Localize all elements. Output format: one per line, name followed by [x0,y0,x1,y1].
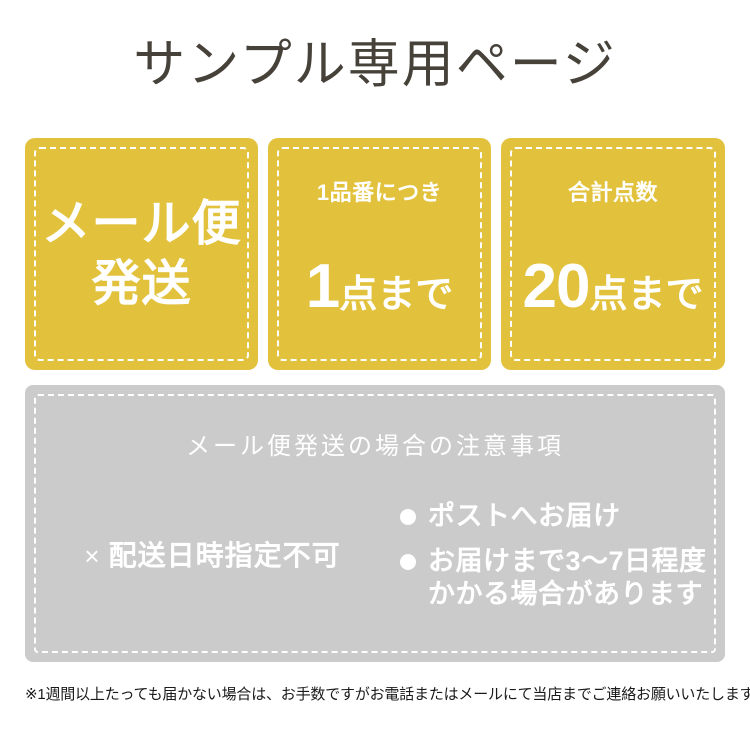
card-total-quantity-number: 20 [523,256,590,318]
list-item-label: ポストへお届け [428,500,621,533]
page-title: サンプル専用ページ [0,34,750,96]
card-shipping-method: メール便 発送 [25,138,258,370]
list-item: ポストへお届け [400,500,725,533]
list-item-label-line1: お届けまで3〜7日程度 [428,546,707,576]
card-shipping-method-line2: 発送 [25,254,258,314]
card-per-item-limit-number: 1 [306,256,339,318]
card-total-quantity-value: 20 点まで [501,256,725,328]
notice-heading: メール便発送の場合の注意事項 [25,432,725,462]
notice-no-delivery-time-selection: ×配送日時指定不可 [25,538,400,574]
card-total-quantity-unit: 点まで [589,276,703,314]
card-total-quantity-limit: 合計点数 20 点まで [501,138,725,370]
cross-icon: × [84,541,100,571]
card-shipping-method-line1: メール便 [25,194,258,254]
bullet-dot-icon [400,554,416,570]
highlight-card-row: メール便 発送 1品番につき 1 点まで 合計点数 20 点まで [25,138,725,370]
notice-bullet-list: ポストへお届け お届けまで3〜7日程度 かかる場合があります [400,500,725,611]
card-per-item-limit-unit: 点まで [339,276,453,314]
footer-note: ※1週間以上たっても届かない場合は、お手数ですがお電話またはメールにて当店までご… [25,684,731,706]
card-shipping-method-text: メール便 発送 [25,194,258,314]
card-per-item-limit-caption: 1品番につき [268,180,491,206]
card-total-quantity-caption: 合計点数 [501,180,725,206]
bullet-dot-icon [400,509,416,525]
notice-no-delivery-time-selection-label: 配送日時指定不可 [109,540,341,571]
list-item-label: お届けまで3〜7日程度 かかる場合があります [428,545,707,611]
notice-body: ×配送日時指定不可 ポストへお届け お届けまで3〜7日程度 かかる場合があります [25,500,725,611]
card-per-item-limit: 1品番につき 1 点まで [268,138,491,370]
sample-shipping-info-page: サンプル専用ページ メール便 発送 1品番につき 1 点まで 合計点数 20 点… [0,0,750,750]
list-item-label-line2: かかる場合があります [428,579,703,609]
notice-panel: メール便発送の場合の注意事項 ×配送日時指定不可 ポストへお届け お届けまで3〜… [25,385,725,662]
list-item: お届けまで3〜7日程度 かかる場合があります [400,545,725,611]
card-per-item-limit-value: 1 点まで [268,256,491,328]
